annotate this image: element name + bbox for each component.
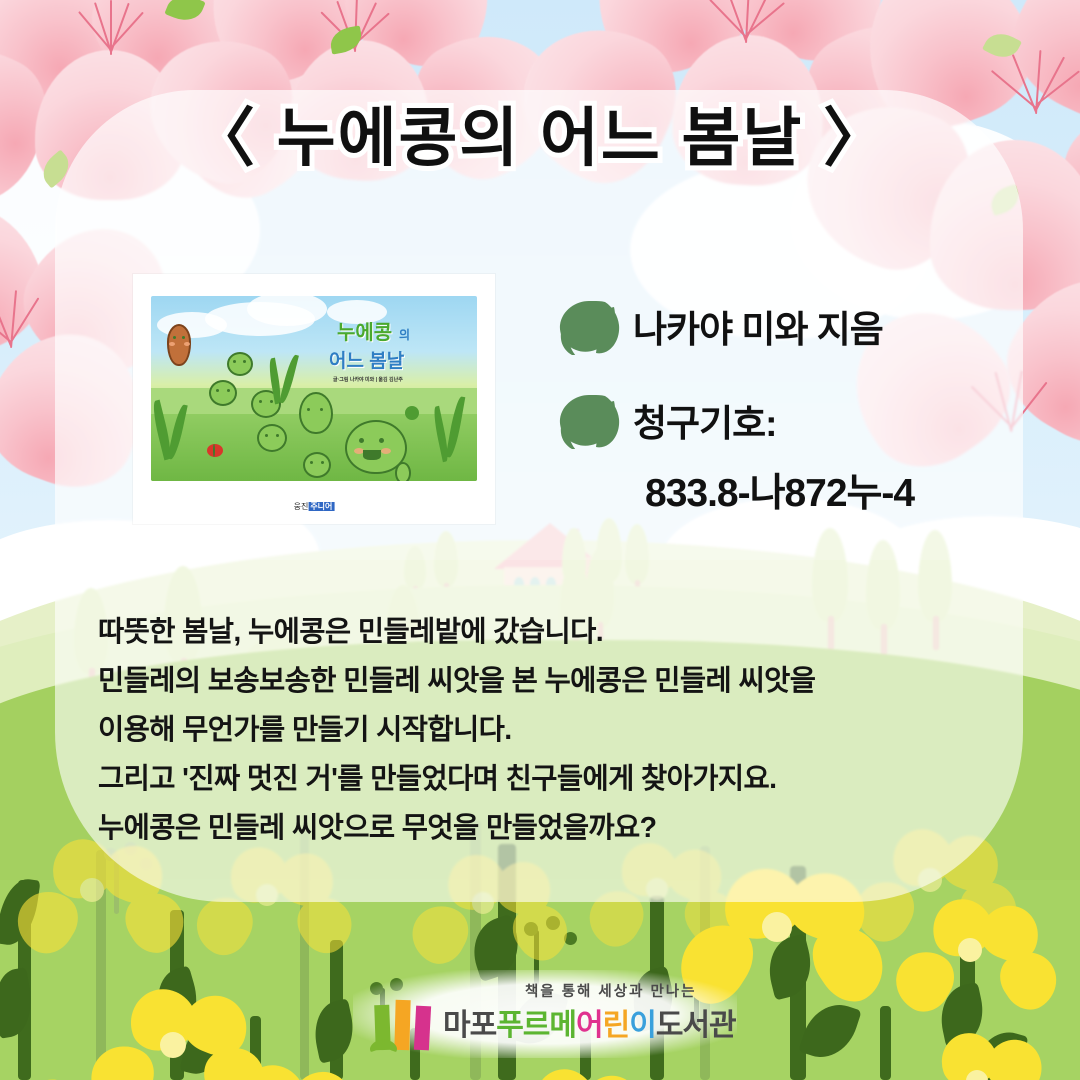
book-cover-image: 누에콩 의 어느 봄날 글·그림 나카야 미와 | 옮김 김난주 웅진주니어 xyxy=(133,274,495,524)
bean-character xyxy=(395,462,411,481)
cover-title-suffix: 의 xyxy=(399,326,410,343)
bean-character xyxy=(209,380,237,406)
summary-line: 누에콩은 민들레 씨앗으로 무엇을 만들었을까요? xyxy=(98,804,998,853)
book-summary: 따뜻한 봄날, 누에콩은 민들레밭에 갔습니다. 민들레의 보송보송한 민들레 … xyxy=(98,608,998,853)
logo-name-part: 마포 xyxy=(443,1009,496,1042)
meta-row-callnumber: 청구기호: xyxy=(555,389,1025,467)
cover-credit: 글·그림 나카야 미와 | 옮김 김난주 xyxy=(333,376,403,383)
leaf-icon xyxy=(555,299,621,355)
page-title: 〈 누에콩의 어느 봄날 〉 xyxy=(0,106,1080,170)
logo-name-part: 푸르메 xyxy=(496,1009,576,1042)
canola-bloom xyxy=(912,898,1038,1006)
ladybug xyxy=(207,444,223,457)
imprint-badge: 주니어 xyxy=(308,502,334,511)
book-stack-icon xyxy=(375,994,433,1050)
logo-name: 마포푸르메어린이도서관 xyxy=(443,1000,736,1044)
summary-line: 따뜻한 봄날, 누에콩은 민들레밭에 갔습니다. xyxy=(98,608,998,657)
imprint-publisher: 웅진 xyxy=(294,502,309,511)
cover-title-sub: 어느 봄날 xyxy=(329,346,404,373)
logo-name-part: 도서관 xyxy=(656,1009,736,1042)
bean-character xyxy=(303,452,331,478)
bean-character xyxy=(227,352,253,376)
bean-character xyxy=(299,392,333,434)
summary-line: 그리고 '진짜 멋진 거'를 만들었다며 친구들에게 찾아가지요. xyxy=(98,755,998,804)
canola-bloom xyxy=(218,1064,352,1080)
logo-name-part: 이 xyxy=(629,1009,656,1042)
author-label: 나카야 미와 지음 xyxy=(633,299,883,353)
poster-canvas: 〈 누에콩의 어느 봄날 〉 xyxy=(0,0,1080,1080)
cover-imprint: 웅진주니어 xyxy=(294,501,335,512)
library-logo: 책을 통해 세상과 만나는 마포푸르메어린이도서관 xyxy=(375,978,715,1050)
bean-character xyxy=(257,424,287,452)
meta-row-author: 나카야 미와 지음 xyxy=(555,295,1025,373)
callnumber-value: 833.8-나872누-4 xyxy=(645,462,914,518)
logo-name-part: 어 xyxy=(576,1009,603,1042)
cover-title-main: 누에콩 xyxy=(337,316,392,345)
callnumber-label: 청구기호: xyxy=(633,393,776,447)
canola-bloom xyxy=(922,1032,1040,1080)
logo-tagline: 책을 통해 세상과 만나는 xyxy=(525,980,697,1001)
summary-line: 민들레의 보송보송한 민들레 씨앗을 본 누에콩은 민들레 씨앗을 xyxy=(98,657,998,706)
leaf-icon xyxy=(555,393,621,449)
book-meta-block: 나카야 미와 지음 청구기호: xyxy=(555,295,1025,467)
summary-line: 이용해 무언가를 만들기 시작합니다. xyxy=(98,706,998,755)
book-cover-artwork: 누에콩 의 어느 봄날 글·그림 나카야 미와 | 옮김 김난주 xyxy=(151,296,477,481)
logo-name-part: 린 xyxy=(603,1009,630,1042)
canola-bloom xyxy=(514,1068,640,1080)
